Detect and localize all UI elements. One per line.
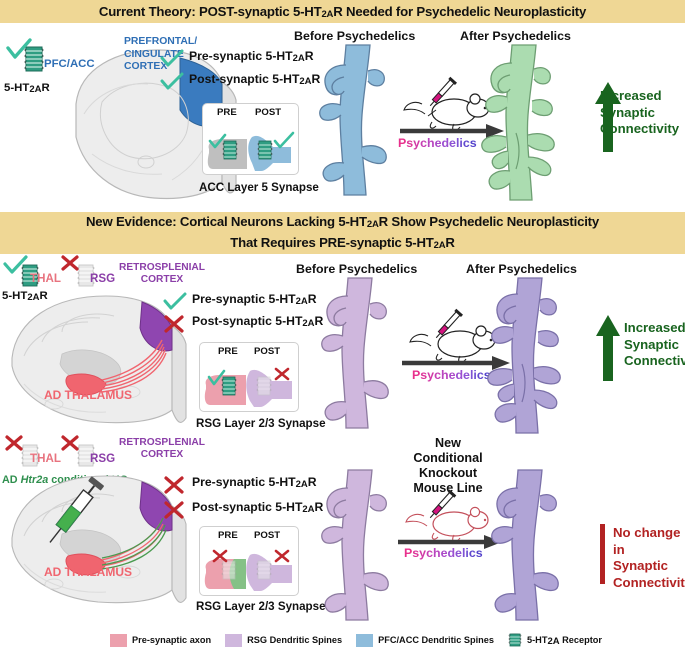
panel1-psychedelics-label: Psychedelics [398, 136, 477, 150]
check-icon [160, 74, 184, 90]
legend-swatch-rsg-dendritic-spines [225, 634, 242, 647]
panel2b-synapse-inset: PRE POST [199, 526, 299, 596]
legend-swatch-receptor-icon [506, 632, 524, 648]
panel2b-thalamus-label: AD THALAMUS [44, 565, 132, 579]
panel2b-outcome-text: No change in Synaptic Connectivity [613, 525, 685, 591]
legend-swatch-pfc-acc-dendritic-spines [356, 634, 373, 647]
panel1-after-header: After Psychedelics [460, 29, 571, 43]
inset-pre-label: PRE [218, 346, 238, 357]
receptor-label-5ht2ar: 5-HT2AR [4, 82, 50, 94]
legend-item: 5-HT2A Receptor [506, 632, 602, 648]
panel2a-outcome-text: Increased Synaptic Connectivity [624, 320, 685, 370]
bullet-label: Pre-synaptic 5-HT [189, 49, 293, 63]
panel1-before-header: Before Psychedelics [294, 29, 415, 43]
x-icon [164, 476, 186, 494]
panel1-outcome-text: Increased Synaptic Connectivity [600, 88, 685, 138]
panel2-banner-line2: That Requires PRE-synaptic 5-HT2AR [230, 233, 454, 254]
legend-item: RSG Dendritic Spines [225, 634, 342, 647]
panel2-banner-line1: New Evidence: Cortical Neurons Lacking 5… [86, 212, 599, 233]
inset-pre-label: PRE [218, 530, 238, 541]
legend-item: Pre-synaptic axon [110, 634, 211, 647]
legend-label: Pre-synaptic axon [132, 635, 211, 645]
x-icon [276, 369, 288, 379]
panel2a-thalamus-label: AD THALAMUS [44, 388, 132, 402]
panel2b-dendrite-after [470, 470, 575, 620]
panel1-dendrite-before [300, 45, 400, 195]
panel1-synapse-inset: PRE POST [202, 103, 299, 175]
inset-post-label: POST [254, 346, 280, 357]
panel1-banner: Current Theory: POST-synaptic 5-HT2AR Ne… [0, 0, 685, 23]
legend-label: PFC/ACC Dendritic Spines [378, 635, 494, 645]
x-icon [164, 315, 186, 333]
panel2b-outcome-bar [600, 524, 605, 584]
legend-label: 5-HT2A Receptor [527, 635, 602, 646]
panel2-banner: New Evidence: Cortical Neurons Lacking 5… [0, 212, 685, 254]
panel2a-rsg-label: RSG [90, 272, 115, 285]
panel2a-dendrite-before [300, 278, 405, 428]
x-icon [63, 437, 77, 449]
panel2b-region-label: RETROSPLENIAL CORTEX [114, 437, 210, 461]
legend-swatch-pre-synaptic-axon [110, 634, 127, 647]
inset-post-label: POST [255, 107, 281, 118]
inset-pre-label: PRE [217, 107, 237, 118]
figure-root: Current Theory: POST-synaptic 5-HT2AR Ne… [0, 0, 685, 654]
check-icon [160, 51, 184, 67]
legend: Pre-synaptic axon RSG Dendritic Spines P… [110, 632, 602, 648]
legend-item: PFC/ACC Dendritic Spines [356, 634, 494, 647]
panel2a-synapse-inset: PRE POST [199, 342, 299, 412]
panel2a-thal-label: THAL [30, 272, 61, 285]
panel1-banner-text: Current Theory: POST-synaptic 5-HT2AR Ne… [99, 4, 586, 19]
check-icon [163, 294, 187, 310]
panel2a-outcome-arrow [595, 315, 621, 381]
inset-post-label: POST [254, 530, 280, 541]
legend-label: RSG Dendritic Spines [247, 635, 342, 645]
check-icon [275, 133, 293, 147]
panel2a-dendrite-after [472, 278, 582, 433]
x-icon [7, 437, 21, 449]
panel2a-after-header: After Psychedelics [466, 262, 577, 276]
panel2b-dendrite-before [300, 470, 405, 620]
panel1-dendrite-after [466, 45, 576, 200]
x-icon [63, 257, 77, 269]
up-arrow-icon [595, 315, 621, 381]
x-icon [276, 551, 288, 561]
panel2a-before-header: Before Psychedelics [296, 262, 417, 276]
panel2a-region-label: RETROSPLENIAL CORTEX [114, 262, 210, 286]
bullet-label: Post-synaptic 5-HT [189, 72, 299, 86]
x-icon [164, 501, 186, 519]
